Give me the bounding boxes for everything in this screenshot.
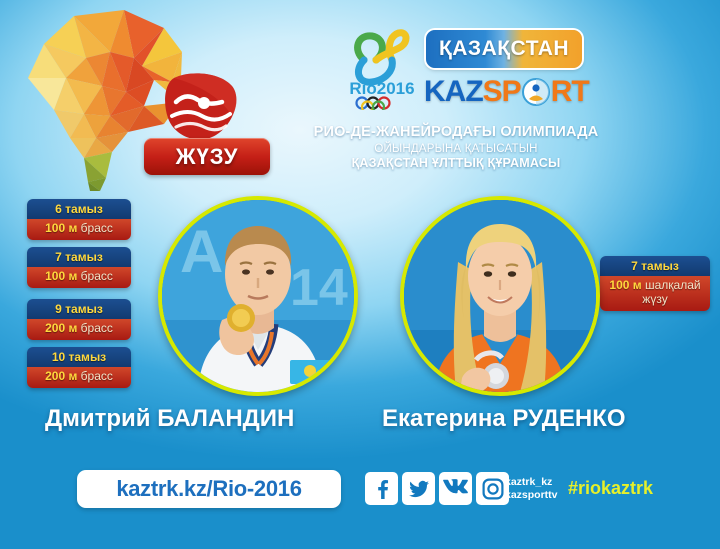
schedule-badge[interactable]: 9 тамыз 200 м брасс: [27, 299, 131, 340]
page-title: РИО-ДЕ-ЖАНЕЙРОДАҒЫ ОЛИМПИАДА ОЙЫНДАРЫНА …: [296, 124, 616, 170]
schedule-event: 100 м брасс: [27, 267, 131, 288]
schedule-badge[interactable]: 7 тамыз 100 м шалқалай жүзу: [600, 256, 710, 311]
olympic-team-poster: Rio2016 ҚАЗАҚСТАН KAZSPRT РИО-ДЕ-ЖАНЕЙРО…: [0, 0, 720, 549]
svg-text:14: 14: [290, 259, 348, 317]
schedule-style: брасс: [81, 221, 113, 235]
hashtag-text: #riokaztrk: [568, 478, 653, 499]
female-swimmer-silver-medal-photo: [400, 196, 600, 396]
athlete-name-male: Дмитрий БАЛАНДИН: [45, 405, 294, 433]
facebook-icon[interactable]: [365, 472, 398, 505]
schedule-badge[interactable]: 7 тамыз 100 м брасс: [27, 247, 131, 288]
schedule-badge[interactable]: 6 тамыз 100 м брасс: [27, 199, 131, 240]
schedule-date: 7 тамыз: [600, 256, 710, 276]
schedule-style: шалқалай жүзу: [642, 278, 700, 306]
schedule-date: 6 тамыз: [27, 199, 131, 219]
schedule-date: 7 тамыз: [27, 247, 131, 267]
headline-line-3: ҚАЗАҚСТАН ҰЛТТЫҚ ҚҰРАМАСЫ: [296, 156, 616, 170]
kazsport-part-kaz: KAZ: [424, 77, 483, 107]
twitter-icon[interactable]: [402, 472, 435, 505]
schedule-distance: 200 м: [45, 321, 77, 335]
schedule-event: 100 м шалқалай жүзу: [600, 276, 710, 311]
athlete-card-female: [400, 196, 600, 396]
kazsport-part-rt: RT: [551, 77, 589, 107]
social-links: [365, 472, 509, 505]
svg-text:Rio2016: Rio2016: [349, 79, 414, 98]
schedule-distance: 100 м: [609, 278, 641, 292]
website-url-text: kaztrk.kz/Rio-2016: [116, 476, 301, 502]
schedule-date: 9 тамыз: [27, 299, 131, 319]
schedule-event: 200 м брасс: [27, 367, 131, 388]
sport-name-text: ЖҮЗУ: [176, 144, 239, 170]
sport-name-badge: ЖҮЗУ: [144, 138, 270, 175]
qazaqstan-tv-logo: ҚАЗАҚСТАН: [426, 30, 582, 68]
rio-2016-olympic-logo: Rio2016: [344, 26, 420, 110]
schedule-style: брасс: [81, 269, 113, 283]
schedule-distance: 100 м: [45, 221, 77, 235]
svg-text:A: A: [180, 218, 223, 285]
schedule-event: 200 м брасс: [27, 319, 131, 340]
vk-icon[interactable]: [439, 472, 472, 505]
kazsport-logo: KAZSPRT: [424, 74, 584, 110]
schedule-date: 10 тамыз: [27, 347, 131, 367]
athlete-name-female: Екатерина РУДЕНКО: [382, 405, 626, 433]
schedule-style: брасс: [81, 321, 113, 335]
website-url-button[interactable]: kaztrk.kz/Rio-2016: [77, 470, 341, 508]
handle-kaztrk: kaztrk_kz: [505, 476, 558, 489]
kazsport-ball-icon: [521, 77, 551, 107]
social-handles: kaztrk_kz kazsporttv: [505, 476, 558, 502]
kazsport-part-sp: SP: [483, 77, 521, 107]
handle-kazsporttv: kazsporttv: [505, 489, 558, 502]
athlete-card-male: A 14: [158, 196, 358, 396]
schedule-distance: 100 м: [45, 269, 77, 283]
qazaqstan-logo-text: ҚАЗАҚСТАН: [439, 37, 569, 61]
schedule-distance: 200 м: [45, 369, 77, 383]
swimming-pictogram-icon: [160, 72, 242, 142]
schedule-badge[interactable]: 10 тамыз 200 м брасс: [27, 347, 131, 388]
male-swimmer-gold-medal-photo: A 14: [158, 196, 358, 396]
schedule-event: 100 м брасс: [27, 219, 131, 240]
headline-line-1: РИО-ДЕ-ЖАНЕЙРОДАҒЫ ОЛИМПИАДА: [296, 124, 616, 140]
schedule-style: брасс: [81, 369, 113, 383]
headline-line-2: ОЙЫНДАРЫНА ҚАТЫСАТЫН: [296, 143, 616, 155]
